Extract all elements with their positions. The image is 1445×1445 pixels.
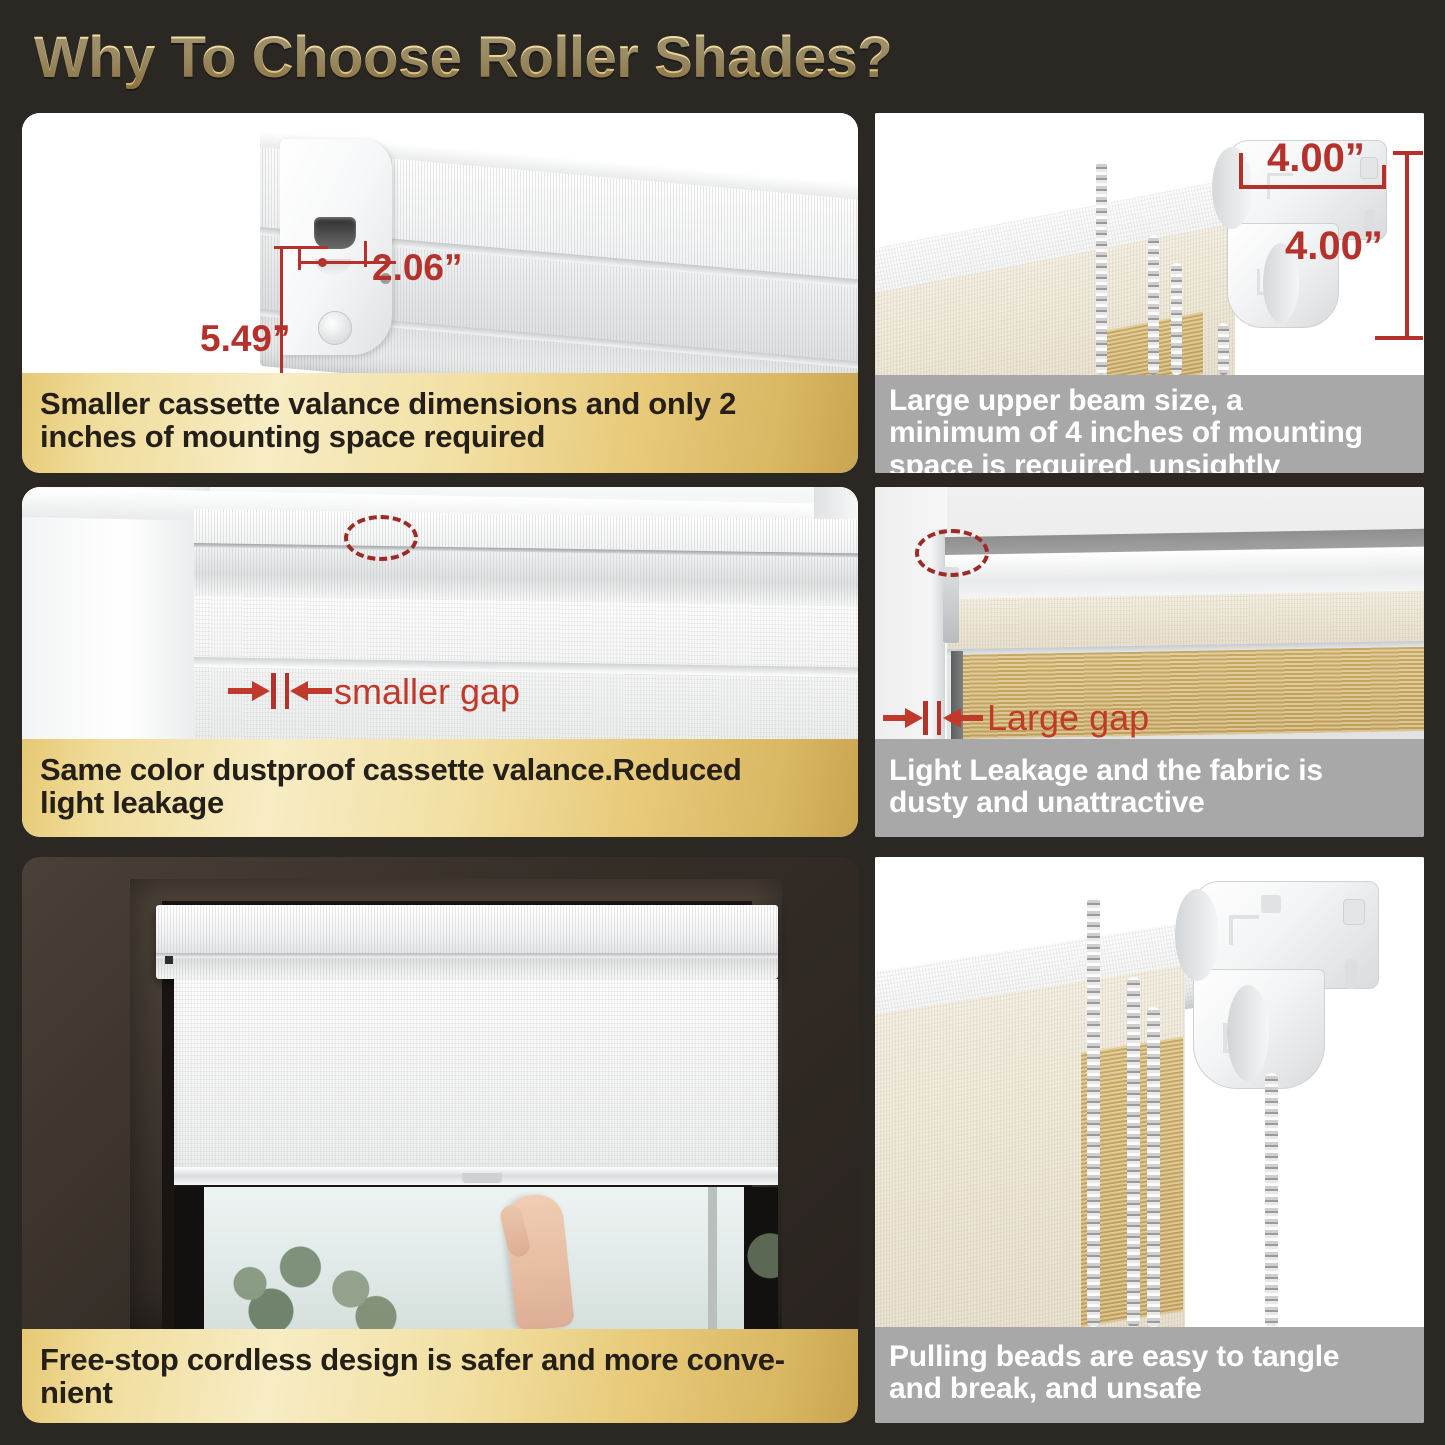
bead-chain-3 (1147, 1007, 1160, 1327)
panel-bottom-right-photo (875, 857, 1424, 1327)
roller-end-disc (1175, 889, 1219, 981)
caption-middle-left: Same color dustproof cassette valance.Re… (22, 739, 858, 837)
end-cap-screw-lower-icon (318, 311, 352, 345)
gap-highlight-ellipse (915, 529, 989, 577)
shade-fabric-cream-surface (947, 591, 1424, 649)
dim-width-left-tick (298, 246, 301, 270)
dim-width-right-tick (1382, 165, 1386, 189)
bead-chain-4 (1218, 323, 1229, 375)
gap-label: smaller gap (334, 671, 520, 713)
gap-highlight-ellipse-main (344, 515, 418, 561)
caption-top-right: Large upper beam size, a minimum of 4 in… (875, 375, 1424, 473)
window-frame-left (22, 487, 210, 739)
roller-end-disc-lower (1227, 985, 1269, 1081)
caption-middle-right-line-2: dusty and unattractive (889, 787, 1323, 819)
window-mullion (708, 1187, 717, 1329)
dim-height-label: 5.49” (200, 318, 291, 360)
tree-foliage-left (208, 1223, 418, 1329)
dim-width-label: 2.06” (372, 247, 463, 289)
gap-marker-bar-2 (937, 701, 941, 735)
bead-chain-4 (1265, 1073, 1278, 1327)
bracket-slot-mid-icon (1261, 895, 1281, 913)
panel-bottom-left-photo (22, 857, 858, 1329)
gap-arrow-left-icon (883, 706, 923, 730)
gap-marker-bar-2 (285, 673, 289, 709)
caption-bottom-left-line-2: nient (40, 1376, 785, 1409)
dim-height-label: 4.00” (1285, 224, 1383, 269)
dim-height-top-tick (1393, 151, 1423, 155)
shade-fabric (194, 595, 858, 739)
dim-width-left-tick (1239, 153, 1243, 189)
caption-top-right-line-3: space is required, unsightly (889, 450, 1363, 473)
window-view (174, 1187, 778, 1329)
bracket-arrow-upper-icon (1229, 915, 1259, 945)
bracket-clip-icon (943, 567, 959, 643)
cassette-valance (156, 905, 778, 979)
valance-end-dot-icon (165, 956, 173, 964)
gap-label: Large gap (987, 697, 1149, 739)
valance-seam-line (156, 953, 778, 958)
panel-bottom-left: Free-stop cordless design is safer and m… (22, 857, 858, 1423)
shade-fabric-cream (947, 591, 1424, 649)
panel-top-left-photo: 5.49” 2.06” (22, 113, 858, 373)
panel-middle-right-photo: Large gap (875, 487, 1424, 739)
gap-arrow-right-icon (290, 679, 332, 703)
cassette-valance (194, 509, 858, 605)
bracket-slot-lower-icon (1345, 959, 1357, 989)
caption-top-right-line-1: Large upper beam size, a (889, 385, 1363, 417)
caption-bottom-right-line-1: Pulling beads are easy to tangle (889, 1341, 1339, 1373)
panel-middle-right: Large gap Light Leakage and the fabric i… (875, 487, 1424, 837)
bracket-slot-upper-icon (1343, 899, 1365, 925)
caption-top-left-line-1: Smaller cassette valance dimensions and … (40, 387, 736, 420)
caption-bottom-right: Pulling beads are easy to tangle and bre… (875, 1327, 1424, 1423)
panel-top-right-photo: 4.00” 4.00” (875, 113, 1424, 375)
caption-middle-right-line-1: Light Leakage and the fabric is (889, 755, 1323, 787)
dim-height-bottom-tick (1375, 336, 1423, 340)
gap-marker-bar (923, 701, 928, 735)
panel-middle-left: smaller gap Same color dustproof cassett… (22, 487, 858, 837)
caption-bottom-left: Free-stop cordless design is safer and m… (22, 1329, 858, 1423)
tree-foliage-right (734, 1207, 778, 1329)
caption-middle-left-line-1: Same color dustproof cassette valance.Re… (40, 753, 741, 786)
bead-chain-1 (1096, 161, 1107, 375)
panel-top-right: 4.00” 4.00” Large upper beam size, a min… (875, 113, 1424, 473)
end-cap-slot-icon (314, 217, 356, 249)
panel-middle-left-photo: smaller gap (22, 487, 858, 739)
page-title: Why To Choose Roller Shades? (34, 22, 1034, 94)
window-sash-left (174, 1187, 204, 1329)
bead-chain-3 (1171, 263, 1182, 375)
caption-top-left-line-2: inches of mounting space required (40, 420, 736, 453)
shade-fabric-surface (174, 979, 778, 1179)
caption-bottom-left-line-1: Free-stop cordless design is safer and m… (40, 1343, 785, 1376)
dim-height-top-tick (274, 246, 328, 249)
dim-width-horizontal-line (1239, 185, 1385, 189)
shade-fabric (174, 979, 778, 1179)
gap-arrow-right-icon (943, 706, 983, 730)
caption-top-right-line-2: minimum of 4 inches of mounting (889, 417, 1363, 449)
bead-chain-2 (1127, 977, 1140, 1327)
gap-arrow-left-icon (228, 679, 270, 703)
panel-bottom-right: Pulling beads are easy to tangle and bre… (875, 857, 1424, 1423)
caption-top-left: Smaller cassette valance dimensions and … (22, 373, 858, 473)
dim-width-label: 4.00” (1267, 136, 1365, 181)
cassette-valance-surface (194, 509, 858, 605)
panel-top-left: 5.49” 2.06” Smaller cassette valance dim… (22, 113, 858, 473)
caption-middle-right: Light Leakage and the fabric is dusty an… (875, 739, 1424, 837)
gap-marker-bar (271, 673, 276, 709)
dim-height-vertical-line (1405, 151, 1409, 339)
shade-pull-tab-icon (462, 1173, 502, 1183)
cassette-valance-surface (156, 905, 778, 979)
caption-middle-left-line-2: light leakage (40, 786, 741, 819)
infographic-root: Why To Choose Roller Shades? 5.49” (0, 0, 1445, 1445)
caption-bottom-right-line-2: and break, and unsafe (889, 1373, 1339, 1405)
bead-chain-2 (1148, 235, 1159, 375)
dim-width-right-tick (364, 241, 367, 267)
bead-chain-1 (1087, 897, 1100, 1327)
